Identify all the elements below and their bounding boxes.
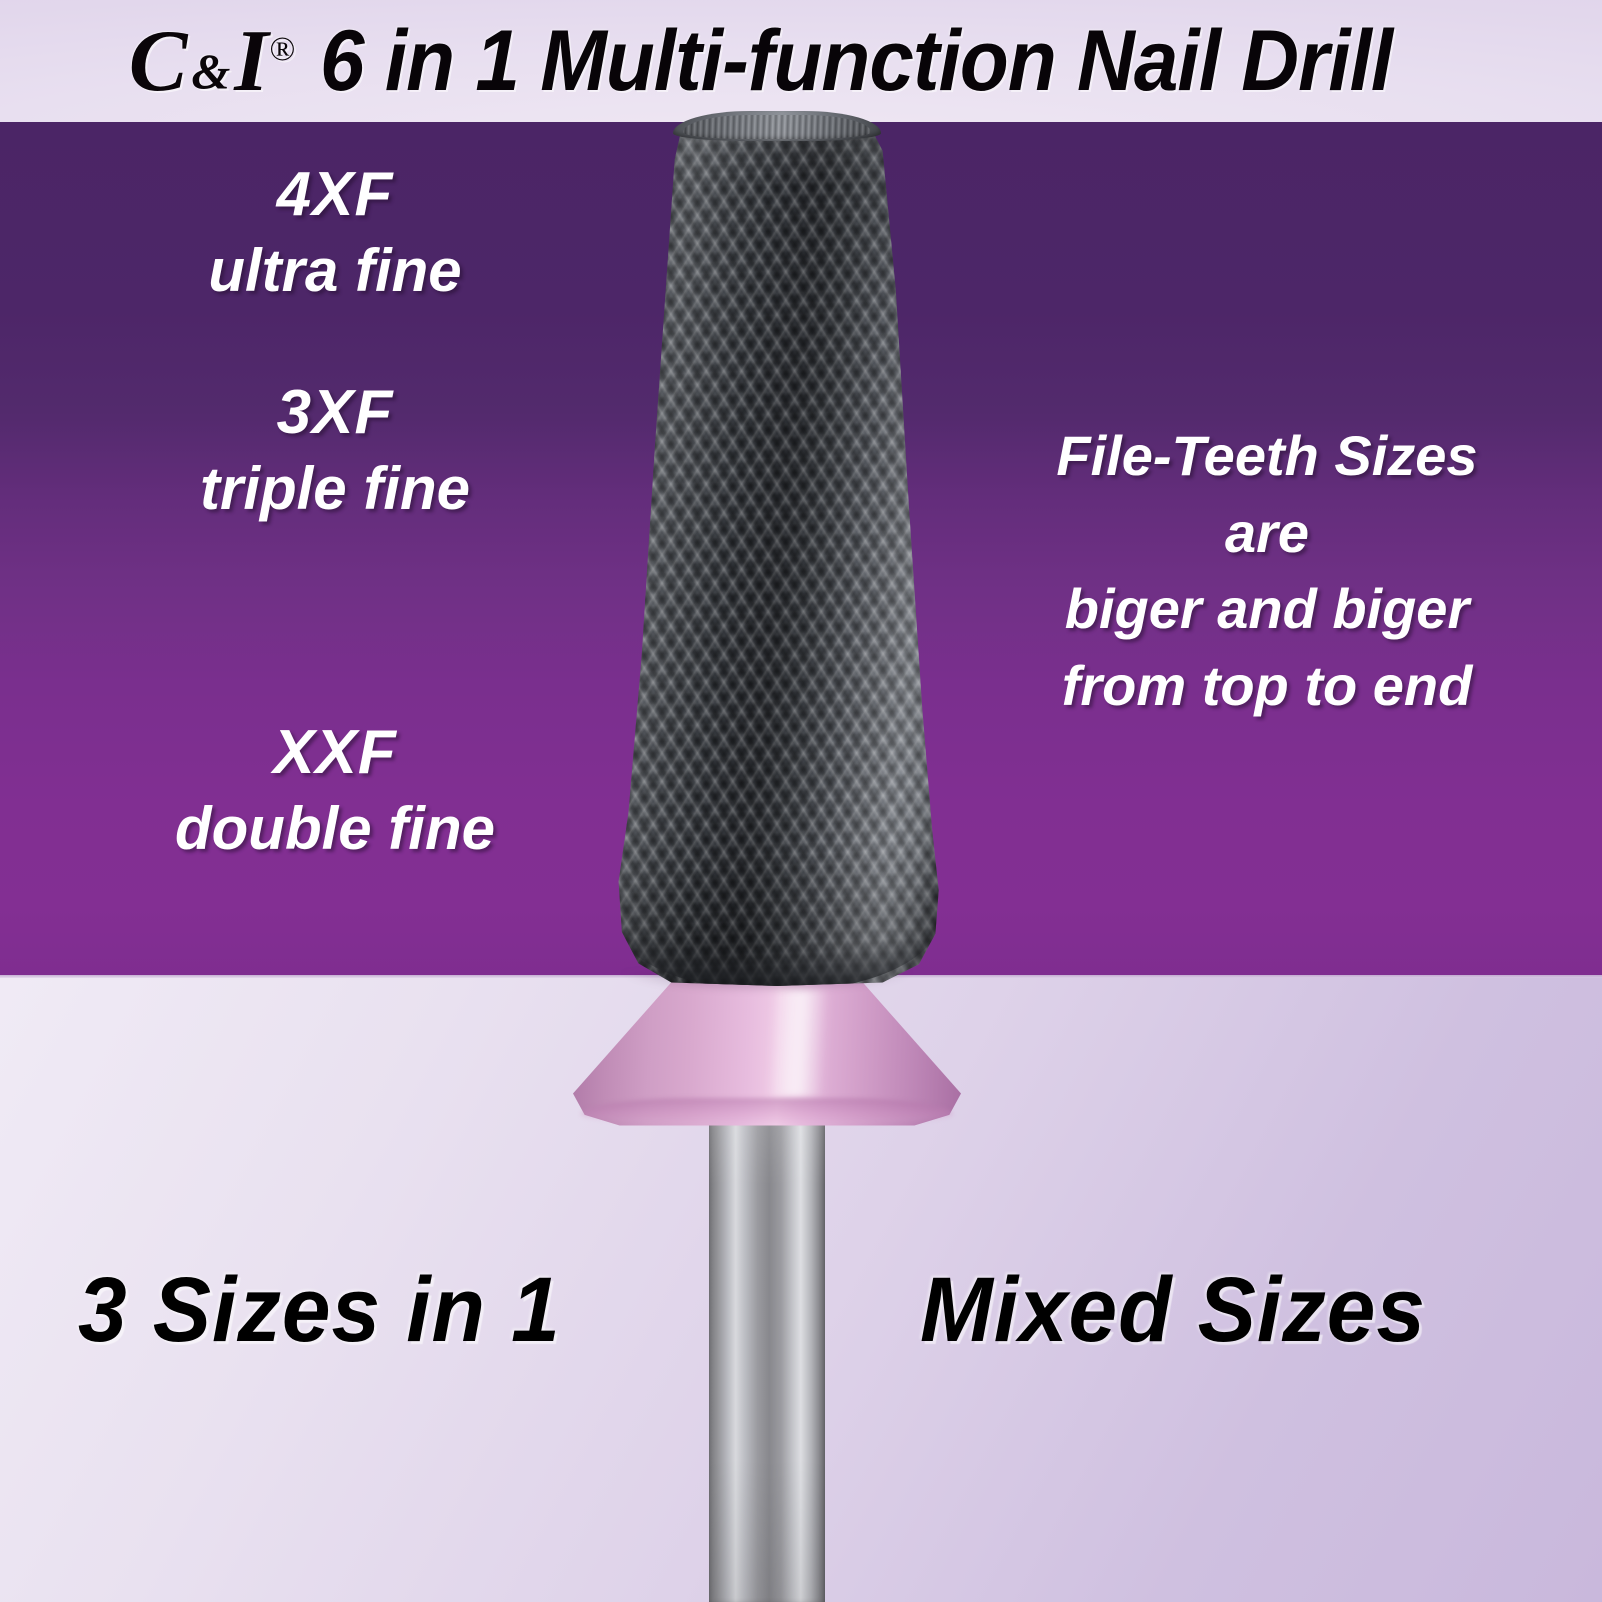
pink-rubber-mandrel-base: [573, 975, 961, 1127]
steel-shank: [709, 1118, 825, 1602]
footer-caption-mixed-sizes: Mixed Sizes: [920, 1258, 1426, 1363]
note-line-4: from top to end: [952, 648, 1582, 725]
tapered-carbide-nail-drill-bit: [612, 116, 942, 986]
grit-grade: 4XF: [90, 160, 580, 229]
header: C&I® 6 in 1 Multi-function Nail Drill: [0, 0, 1602, 122]
brand-logo: C&I®: [129, 11, 297, 112]
mandrel-bottom-rim: [581, 1098, 953, 1124]
brand-letter-c: C: [129, 13, 189, 110]
grit-label-4xf: 4XF ultra fine: [90, 160, 580, 305]
bit-shading: [612, 116, 942, 986]
grit-desc: ultra fine: [90, 237, 580, 304]
product-poster: C&I® 6 in 1 Multi-function Nail Drill 4X…: [0, 0, 1602, 1602]
grit-label-3xf: 3XF triple fine: [90, 378, 580, 523]
note-line-2: are: [952, 495, 1582, 572]
grit-desc: triple fine: [90, 455, 580, 522]
brand-ampersand: &: [188, 43, 234, 99]
file-teeth-note: File-Teeth Sizes are biger and biger fro…: [952, 418, 1582, 725]
page-title: 6 in 1 Multi-function Nail Drill: [320, 12, 1392, 111]
grit-grade: 3XF: [90, 378, 580, 447]
grit-desc: double fine: [90, 795, 580, 862]
bit-barrel: [612, 116, 942, 986]
brand-letter-i: I: [234, 13, 269, 110]
footer-caption-sizes-in-one: 3 Sizes in 1: [78, 1258, 561, 1363]
mandrel-highlight: [766, 989, 830, 1097]
note-line-3: biger and biger: [952, 571, 1582, 648]
grit-label-xxf: XXF double fine: [90, 718, 580, 863]
grit-grade: XXF: [90, 718, 580, 787]
note-line-1: File-Teeth Sizes: [952, 418, 1582, 495]
registered-trademark-icon: ®: [270, 31, 297, 68]
